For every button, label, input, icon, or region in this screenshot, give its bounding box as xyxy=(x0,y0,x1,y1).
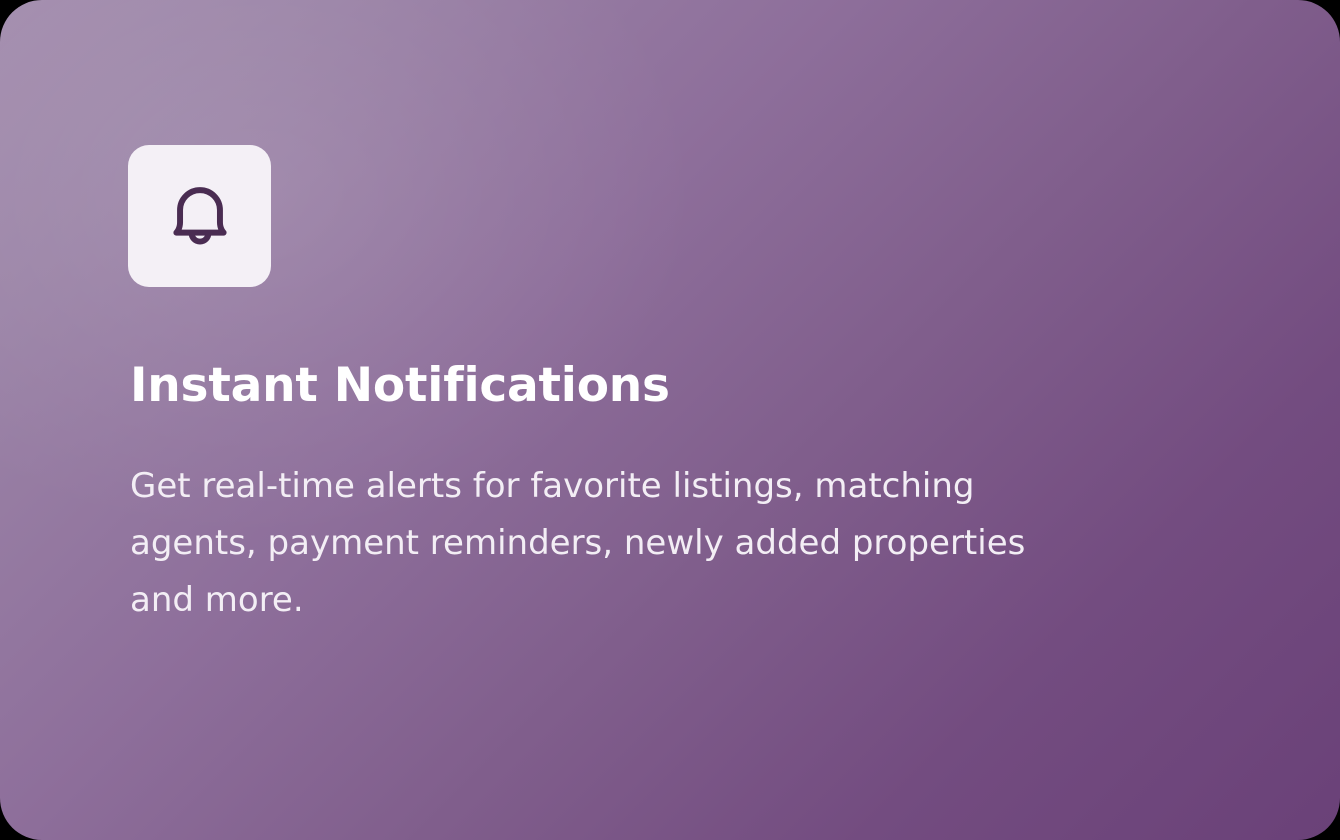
card-description: Get real-time alerts for favorite listin… xyxy=(130,458,1030,629)
card-title: Instant Notifications xyxy=(130,362,670,409)
instant-notifications-feature-card: Instant Notifications Get real-time aler… xyxy=(0,0,1340,840)
bell-icon xyxy=(158,174,242,258)
icon-tile xyxy=(128,145,271,287)
card-content: Instant Notifications Get real-time aler… xyxy=(0,0,1340,287)
